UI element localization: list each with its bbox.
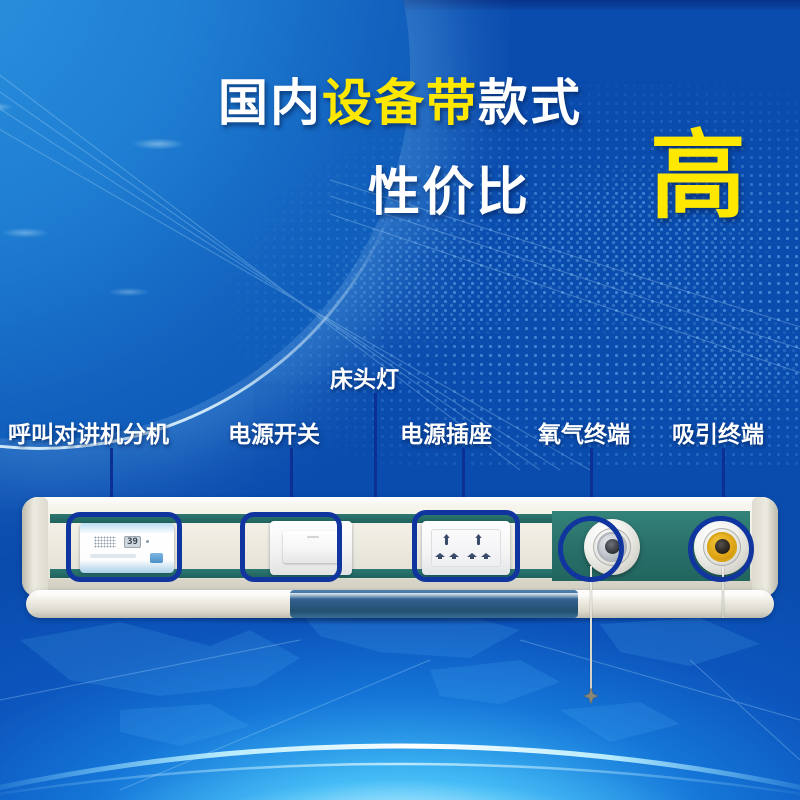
callout-label-socket: 电源插座: [400, 415, 492, 449]
bar-end-cap-left: [22, 497, 48, 597]
callout-label-oxygen: 氧气终端: [538, 415, 630, 449]
bar-lower-rail: [26, 590, 774, 618]
callout-label-power-switch: 电源开关: [228, 415, 320, 449]
highlight-box-socket: [412, 510, 520, 582]
bar-end-cap-right: [752, 497, 778, 597]
highlight-circle-oxygen: [558, 516, 624, 582]
highlight-circle-suction: [688, 516, 754, 582]
callout-label-bed-lamp: 床头灯: [330, 360, 399, 394]
callout-label-suction: 吸引终端: [672, 415, 764, 449]
oxygen-pull-cord[interactable]: [590, 566, 592, 696]
callout-labels: 呼叫对讲机分机 电源开关 床头灯 电源插座 氧气终端 吸引终端: [0, 0, 800, 800]
poster-canvas: 国内设备带款式 性价比 高 呼叫对讲机分机 电源开关 床头灯 电源插座 氧气终端…: [0, 0, 800, 800]
cord-weight-icon[interactable]: [584, 688, 598, 704]
callout-label-intercom: 呼叫对讲机分机: [8, 415, 169, 449]
rail-highlight: [36, 593, 764, 599]
highlight-box-power-switch: [240, 512, 342, 582]
highlight-box-intercom: [66, 512, 182, 582]
